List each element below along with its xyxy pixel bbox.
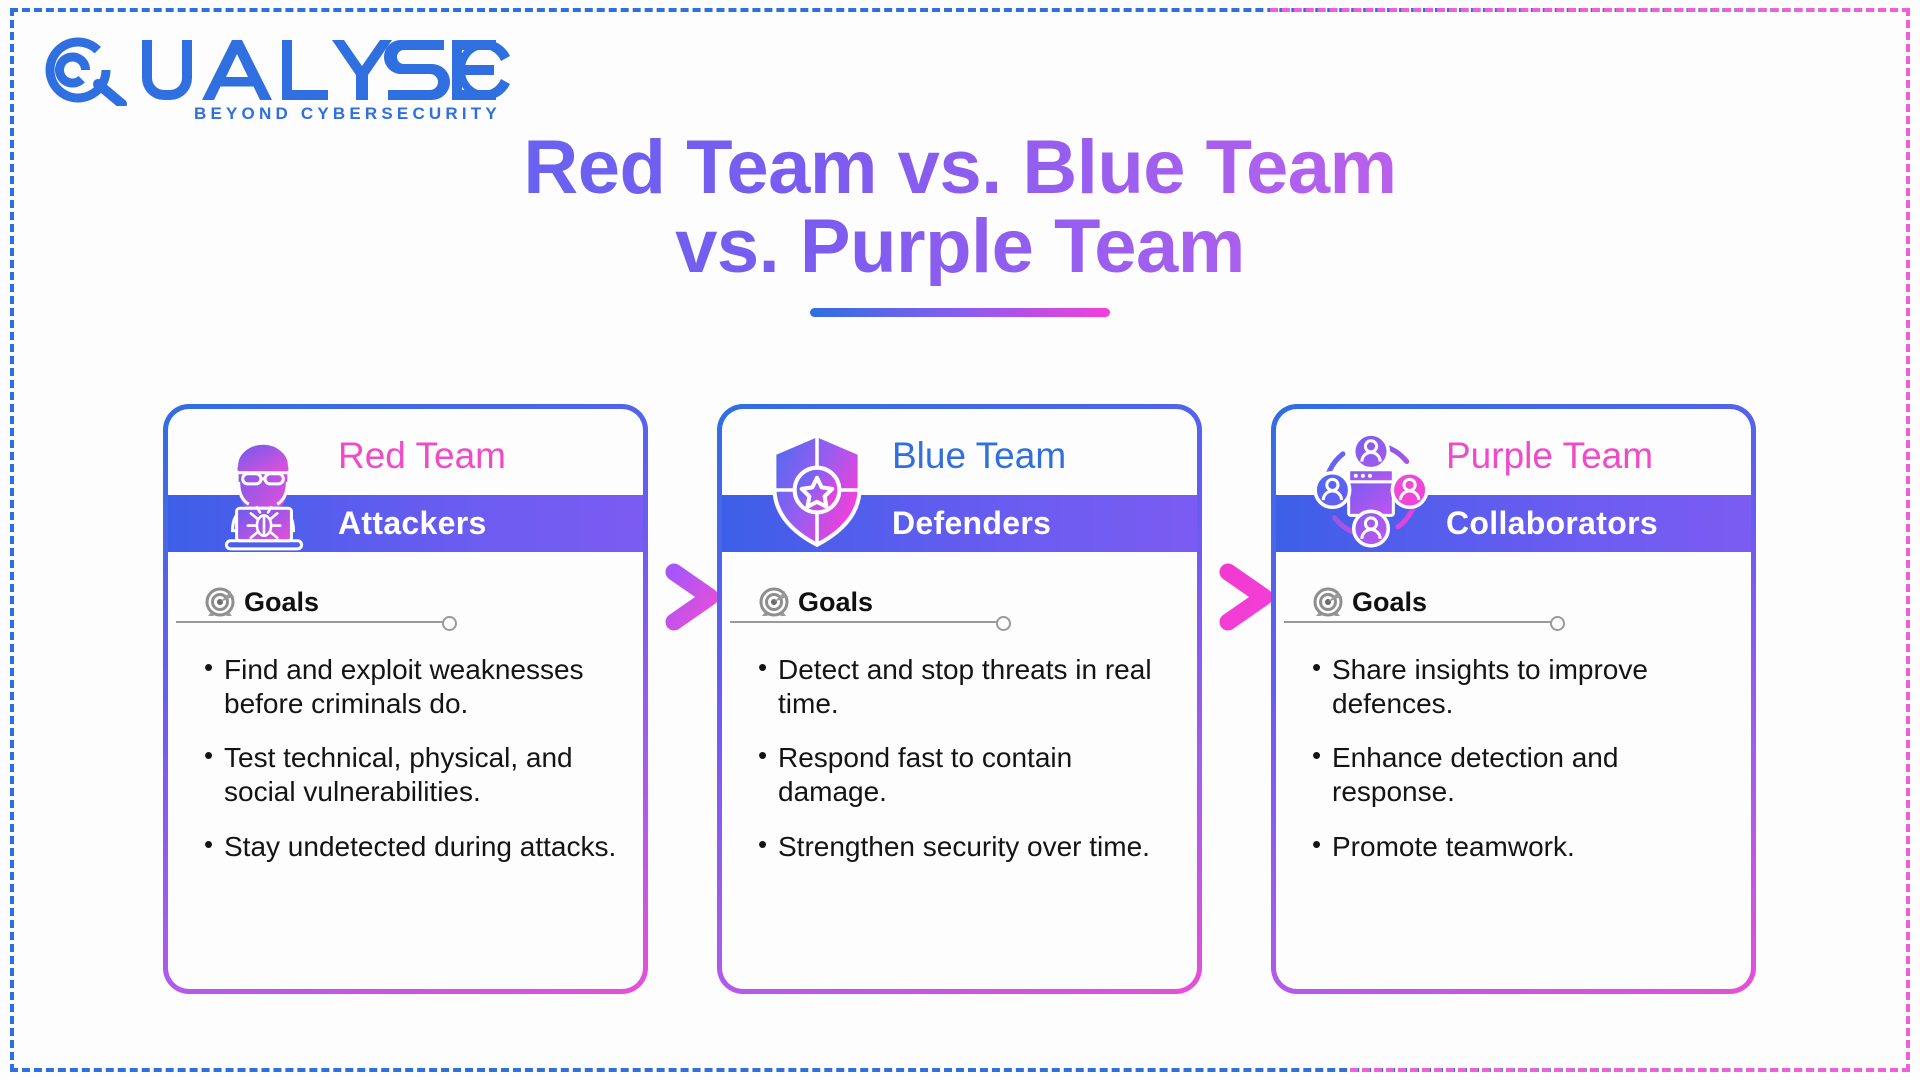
goals-label: Goals <box>1352 587 1427 618</box>
infographic-page: BEYOND CYBERSECURITY Red Team vs. Blue T… <box>0 0 1920 1080</box>
title-line-1: Red Team vs. Blue Team <box>0 128 1920 207</box>
frame-bottom-right-border <box>1350 1068 1910 1072</box>
list-item: Strengthen security over time. <box>756 830 1175 864</box>
list-item: Respond fast to contain damage. <box>756 741 1175 809</box>
list-item: Enhance detection and response. <box>1310 741 1729 809</box>
list-item: Share insights to improve defences. <box>1310 653 1729 721</box>
role-label: Attackers <box>338 505 487 542</box>
target-goals-icon <box>758 585 792 619</box>
shield-star-icon <box>756 425 878 555</box>
card-purple-team[interactable]: Collaborators Purple Team <box>1271 404 1756 994</box>
title-divider <box>810 308 1110 317</box>
team-name: Purple Team <box>1446 435 1653 477</box>
team-card-row: Attackers Red Team <box>0 404 1920 1004</box>
target-goals-icon <box>204 585 238 619</box>
goals-heading: Goals <box>1312 585 1427 619</box>
goals-heading: Goals <box>758 585 873 619</box>
goals-underline <box>1284 621 1554 623</box>
list-item: Test technical, physical, and social vul… <box>202 741 621 809</box>
goals-underline <box>176 621 446 623</box>
card-header: Collaborators Purple Team <box>1276 409 1751 569</box>
logo-tagline: BEYOND CYBERSECURITY <box>194 104 501 124</box>
card-red-team[interactable]: Attackers Red Team <box>163 404 648 994</box>
list-item: Detect and stop threats in real time. <box>756 653 1175 721</box>
goals-label: Goals <box>798 587 873 618</box>
title-line-2: vs. Purple Team <box>0 207 1920 286</box>
role-label: Collaborators <box>1446 505 1658 542</box>
goals-label: Goals <box>244 587 319 618</box>
role-label: Defenders <box>892 505 1051 542</box>
goals-list: Find and exploit weaknesses before crimi… <box>202 653 621 884</box>
goals-heading: Goals <box>204 585 319 619</box>
card-header: Attackers Red Team <box>168 409 643 569</box>
team-name: Blue Team <box>892 435 1066 477</box>
card-blue-team[interactable]: Defenders Blue Team <box>717 404 1202 994</box>
frame-top-right-border <box>1270 8 1910 12</box>
list-item: Promote teamwork. <box>1310 830 1729 864</box>
qualysec-logo: BEYOND CYBERSECURITY <box>44 34 514 124</box>
hacker-laptop-bug-icon <box>202 425 324 555</box>
list-item: Find and exploit weaknesses before crimi… <box>202 653 621 721</box>
qualysec-wordmark-icon <box>44 34 514 106</box>
team-name: Red Team <box>338 435 506 477</box>
goals-list: Share insights to improve defences. Enha… <box>1310 653 1729 884</box>
target-goals-icon <box>1312 585 1346 619</box>
goals-list: Detect and stop threats in real time. Re… <box>756 653 1175 884</box>
frame-bottom-border <box>10 1068 1910 1072</box>
list-item: Stay undetected during attacks. <box>202 830 621 864</box>
goals-underline <box>730 621 1000 623</box>
frame-top-border <box>10 8 1910 12</box>
page-title: Red Team vs. Blue Team vs. Purple Team <box>0 128 1920 317</box>
card-header: Defenders Blue Team <box>722 409 1197 569</box>
team-network-icon <box>1310 425 1432 555</box>
